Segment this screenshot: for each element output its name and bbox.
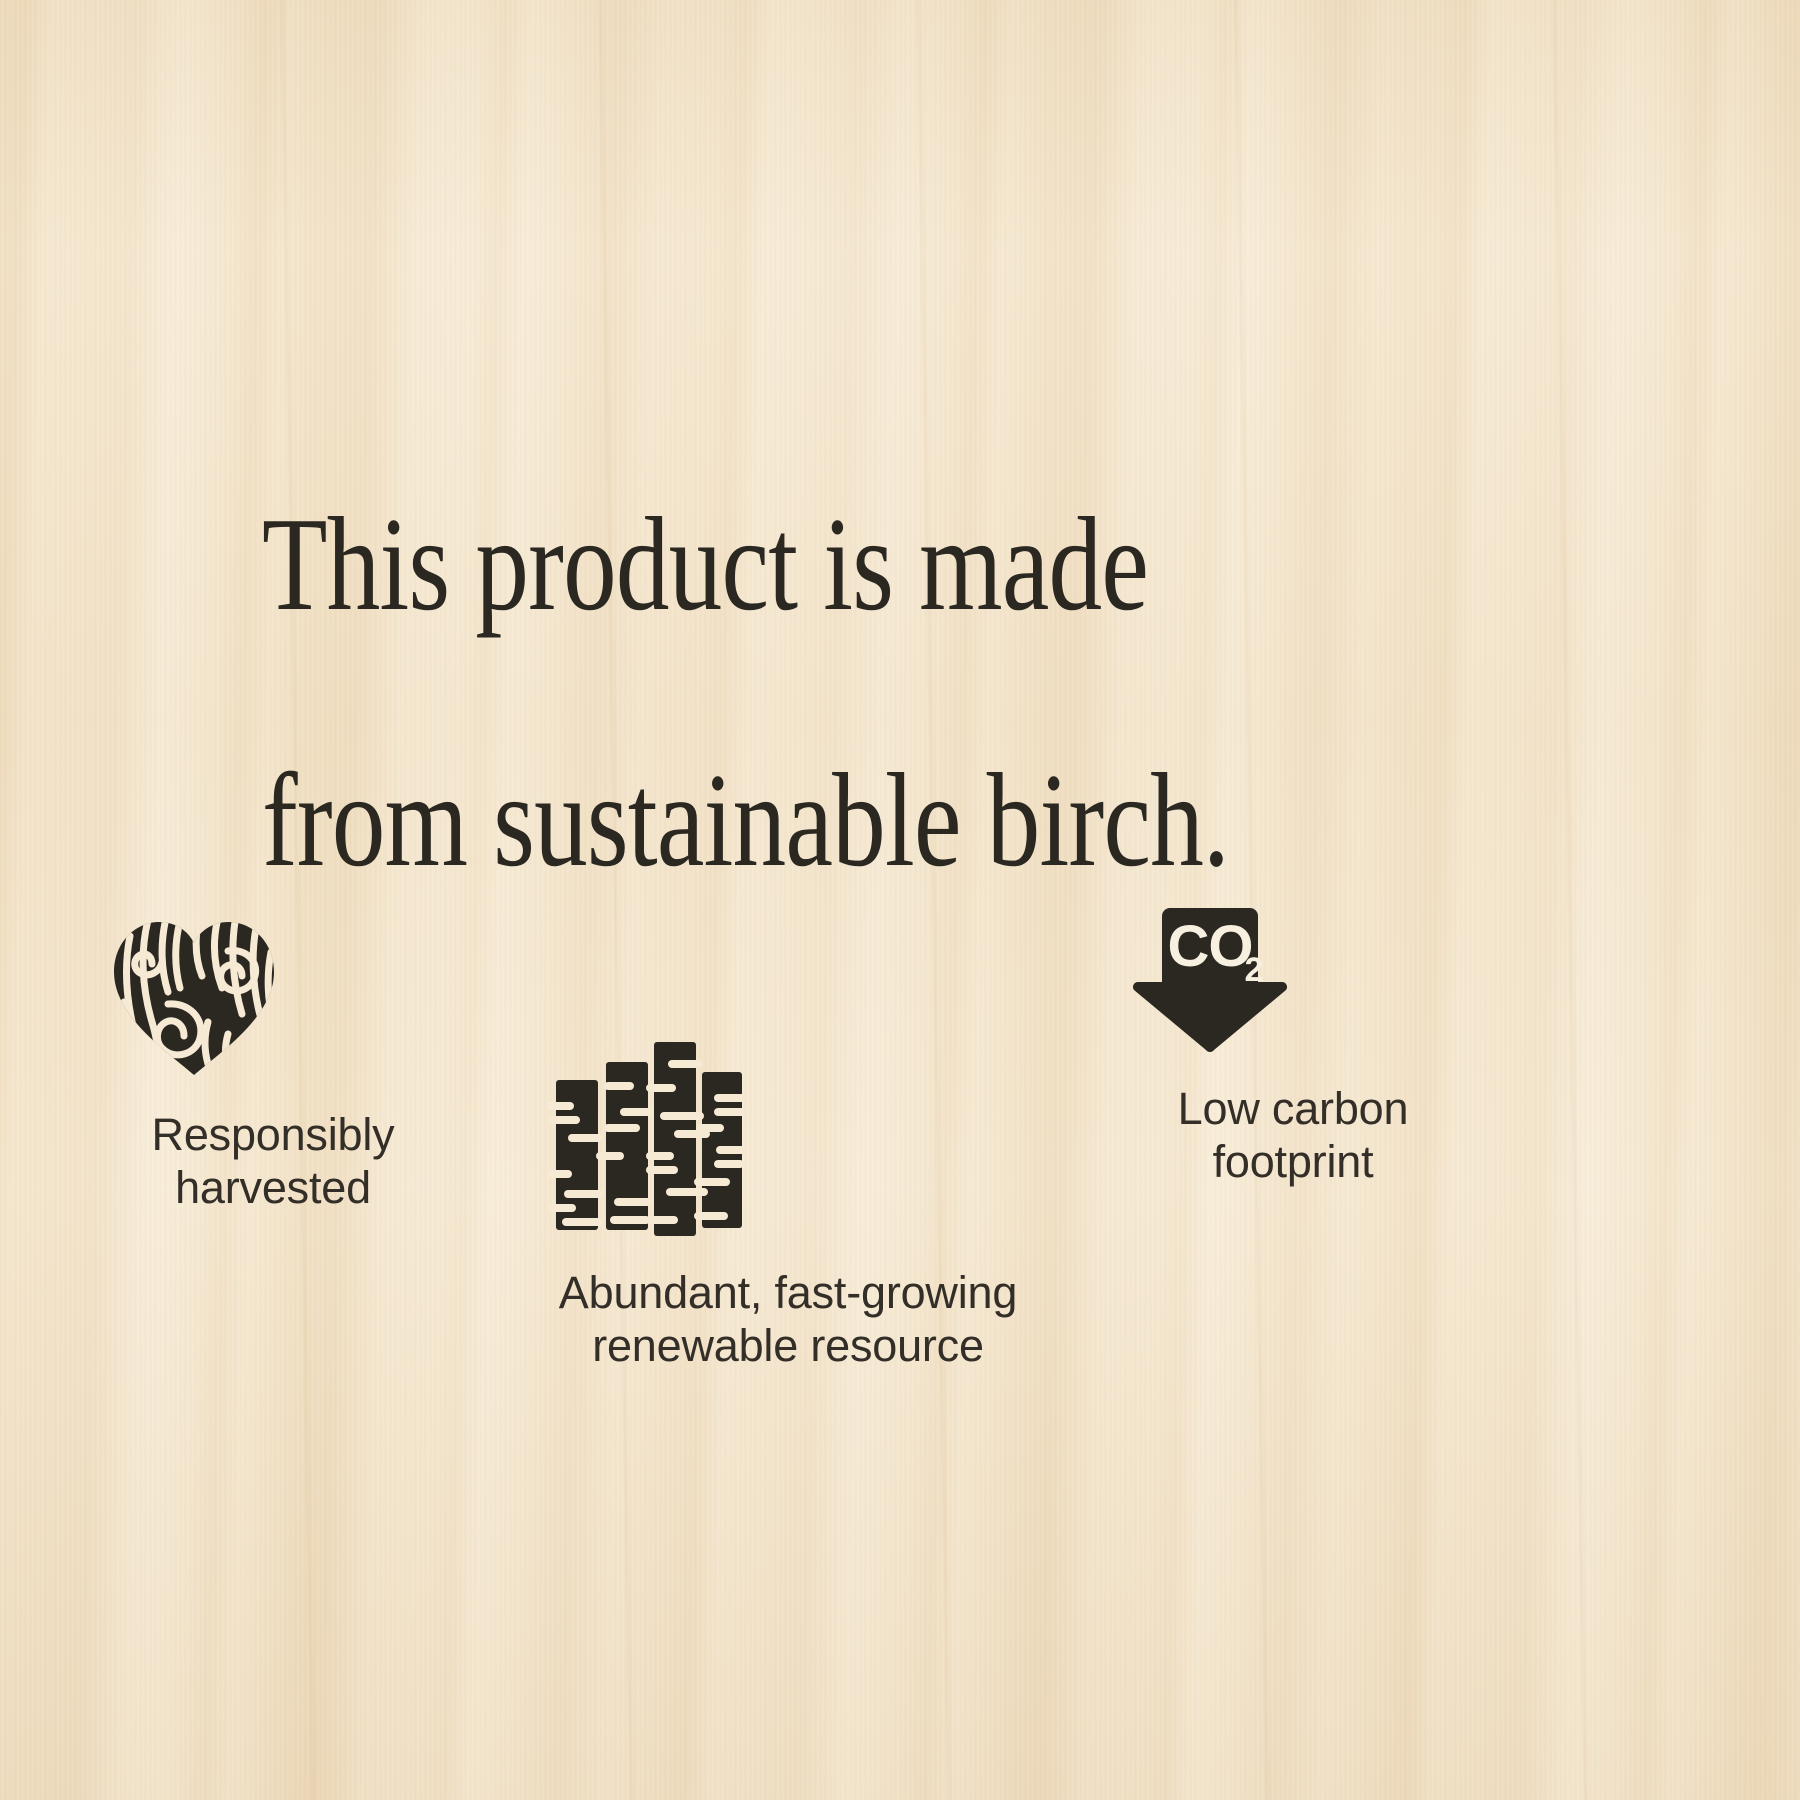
co2-icon-label: CO bbox=[1168, 914, 1253, 979]
headline-line-2: from sustainable birch. bbox=[262, 756, 1294, 884]
caption-line-2: footprint bbox=[1213, 1136, 1374, 1187]
caption-line-2: harvested bbox=[175, 1162, 371, 1213]
feature-low-carbon-footprint: CO 2 Low carbonfootprint bbox=[1128, 908, 1458, 1188]
caption-line-1: Low carbon bbox=[1178, 1083, 1409, 1134]
wood-grain-heart-icon bbox=[108, 918, 438, 1076]
birch-panel-background: This product is made from sustainable bi… bbox=[0, 0, 1800, 1800]
co2-icon-subscript: 2 bbox=[1245, 951, 1264, 989]
birch-trunks-icon bbox=[548, 1040, 1028, 1238]
caption-line-2: renewable resource bbox=[592, 1320, 984, 1371]
co2-down-arrow-icon: CO 2 bbox=[1128, 908, 1458, 1054]
feature-responsibly-harvested: Responsiblyharvested bbox=[108, 918, 438, 1214]
feature-caption: Low carbonfootprint bbox=[1128, 1082, 1458, 1188]
caption-line-1: Abundant, fast-growing bbox=[559, 1267, 1017, 1318]
feature-abundant-fast-growing: Abundant, fast-growingrenewable resource bbox=[548, 1040, 1028, 1372]
headline-line-1: This product is made bbox=[262, 500, 1294, 628]
feature-caption: Responsiblyharvested bbox=[108, 1108, 438, 1214]
caption-line-1: Responsibly bbox=[152, 1109, 395, 1160]
feature-caption: Abundant, fast-growingrenewable resource bbox=[548, 1266, 1028, 1372]
